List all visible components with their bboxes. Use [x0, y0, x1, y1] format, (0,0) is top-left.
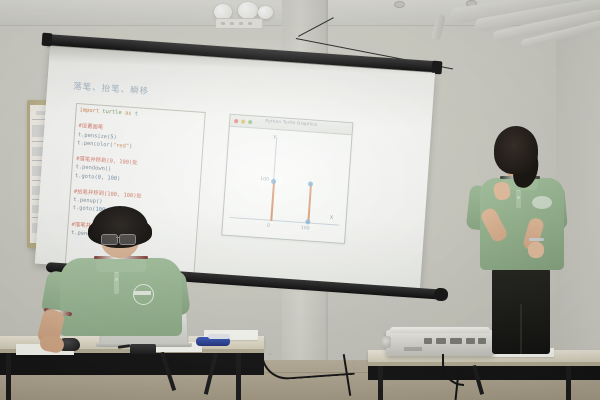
standing-presenter [466, 126, 578, 358]
blue-case-highlight [208, 334, 230, 339]
projector-lens-icon [382, 336, 391, 348]
turtle-graphics-window: Python Turtle Graphics Y X 100 0 100 [221, 114, 353, 244]
projector-port [450, 338, 462, 344]
y-axis-label: Y [273, 135, 276, 141]
presenter-hair [494, 126, 538, 174]
turtle-cursor-icon [308, 181, 313, 186]
x-axis [229, 217, 339, 226]
left-table-shadow [0, 353, 264, 375]
table-leg [566, 366, 571, 400]
turtle-drawn-segment [307, 183, 311, 223]
table-leg [6, 353, 11, 400]
x-axis-label: X [329, 215, 333, 221]
sprinkler-icon [394, 1, 405, 8]
classroom-photo-scene: 落笔、抬笔、瞬移 import turtle as t #设置画笔 t.pens… [0, 0, 600, 400]
wristband [529, 238, 544, 241]
turtle-cursor-icon [271, 179, 276, 184]
turtle-drawn-segment [270, 181, 274, 221]
presenter-right-hand [528, 242, 544, 258]
turtle-canvas: Y X 100 0 100 [222, 126, 351, 242]
x-tick-100: 100 [301, 226, 310, 232]
screen-bottom-cap [434, 288, 449, 302]
student-hand [39, 334, 65, 354]
student-shirt-logo-bar [134, 291, 151, 295]
eyeglasses-icon [119, 234, 136, 245]
table-leg [236, 353, 241, 400]
projector-label [404, 347, 422, 351]
projector-port [424, 338, 432, 344]
screen-bar-cap [42, 33, 53, 47]
slide-title: 落笔、抬笔、瞬移 [73, 80, 150, 97]
presenter-shirt-logo [532, 196, 552, 209]
presenter-leg-split [520, 304, 522, 354]
projector-port [436, 338, 446, 344]
y-tick-100: 100 [260, 177, 269, 183]
ceiling-light-plate [215, 18, 263, 29]
turtle-cursor-icon [305, 219, 310, 224]
eyeglasses-bridge [116, 237, 120, 238]
ceiling-light-icon [238, 2, 258, 19]
eyeglasses-icon [101, 234, 118, 245]
seated-student [18, 206, 198, 356]
table-leg [378, 366, 383, 400]
tick-origin: 0 [267, 224, 270, 229]
